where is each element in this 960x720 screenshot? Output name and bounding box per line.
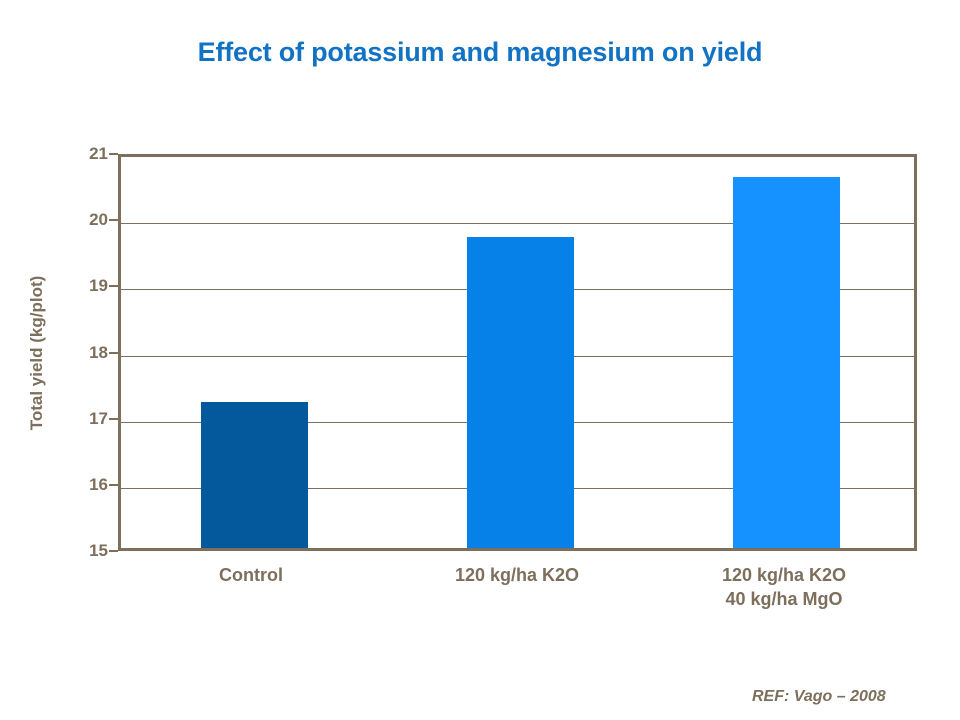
- y-axis-title-label: Total yield (kg/plot): [27, 276, 47, 431]
- y-axis-tick-label: 17: [68, 409, 108, 429]
- y-axis-tick-label: 21: [68, 144, 108, 164]
- slide-canvas: Effect of potassium and magnesium on yie…: [0, 0, 960, 720]
- x-axis-category-label: 120 kg/ha K2O40 kg/ha MgO: [651, 563, 917, 611]
- bar-2: [733, 177, 840, 548]
- y-axis-tick-label: 20: [68, 210, 108, 230]
- y-axis-tick-label: 16: [68, 475, 108, 495]
- x-axis-category-label: Control: [118, 563, 384, 587]
- y-axis-tick-mark: [109, 352, 118, 354]
- y-axis-tick-mark: [109, 153, 118, 155]
- y-axis-tick-mark: [109, 219, 118, 221]
- x-axis-label-line: Control: [118, 563, 384, 587]
- x-axis-label-line: 120 kg/ha K2O: [651, 563, 917, 587]
- x-axis-label-line: 120 kg/ha K2O: [384, 563, 650, 587]
- y-axis-tick-marks: [109, 154, 118, 551]
- y-axis-tick-mark: [109, 285, 118, 287]
- y-axis-title: Total yield (kg/plot): [26, 228, 48, 478]
- bar-0: [201, 402, 308, 548]
- bar-1: [467, 237, 574, 548]
- reference-note: REF: Vago – 2008: [752, 688, 886, 706]
- x-axis-label-line: 40 kg/ha MgO: [651, 587, 917, 611]
- y-axis-tick-label: 18: [68, 343, 108, 363]
- y-axis-tick-mark: [109, 418, 118, 420]
- y-axis-tick-mark: [109, 484, 118, 486]
- y-axis-tick-mark: [109, 550, 118, 552]
- y-axis-tick-label: 19: [68, 276, 108, 296]
- chart-plot-area: [118, 154, 917, 551]
- page-title: Effect of potassium and magnesium on yie…: [0, 37, 960, 68]
- x-axis-category-label: 120 kg/ha K2O: [384, 563, 650, 587]
- x-axis-category-labels: Control120 kg/ha K2O120 kg/ha K2O40 kg/h…: [118, 563, 917, 623]
- y-axis-tick-label: 15: [68, 541, 108, 561]
- y-axis-tick-labels: 15161718192021: [64, 154, 108, 551]
